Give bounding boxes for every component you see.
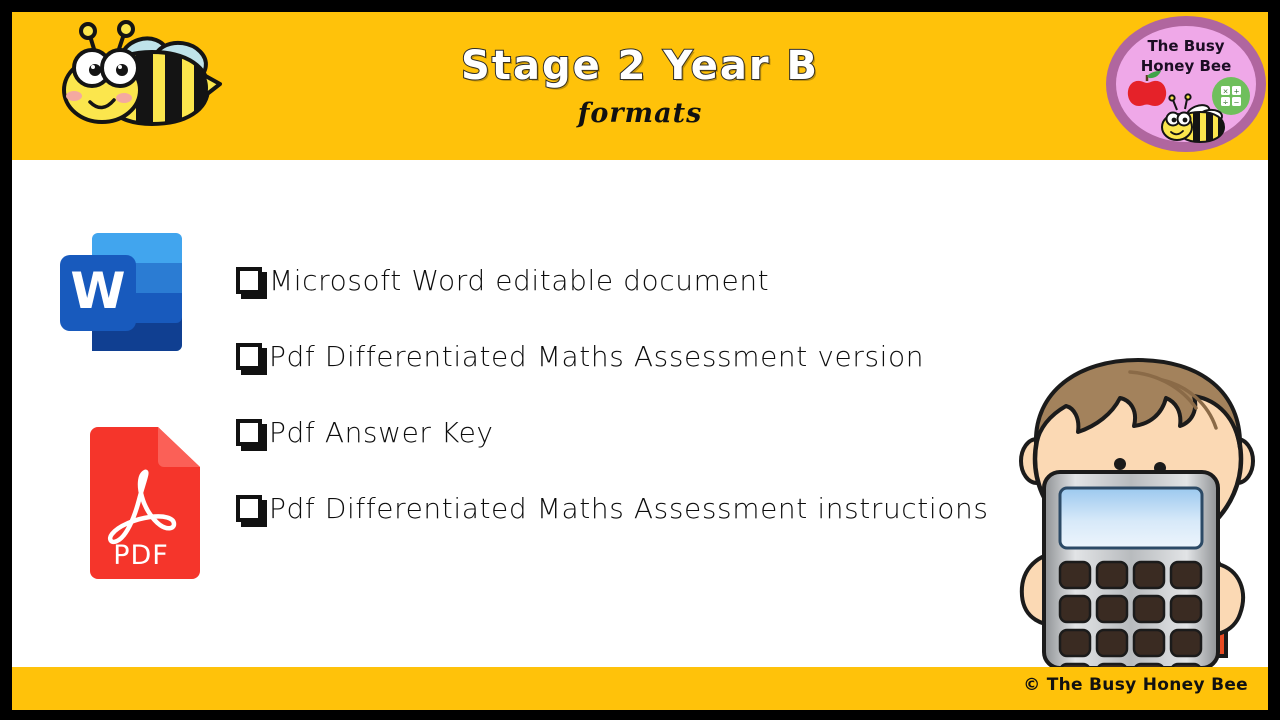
checkbox-1[interactable] [236, 343, 262, 370]
checklist-item-label: Pdf Differentiated Maths Assessment inst… [269, 486, 989, 532]
pdf-icon-label: PDF [113, 540, 169, 571]
svg-text:+: + [1234, 88, 1240, 96]
checklist-item[interactable]: Microsoft Word editable document [236, 258, 1026, 310]
brand-logo-graphic: × + ÷ − [1103, 14, 1269, 154]
svg-text:×: × [1223, 88, 1229, 96]
calculator-badge-icon: × + ÷ − [1212, 77, 1250, 115]
brand-logo[interactable]: × + ÷ − [1103, 14, 1269, 154]
footer-credit: © The Busy Honey Bee [1023, 675, 1248, 695]
checklist-item[interactable]: Pdf Differentiated Maths Assessment vers… [236, 334, 1026, 386]
word-icon-letter: W [70, 262, 125, 320]
microsoft-word-icon[interactable]: W [58, 231, 184, 353]
checklist-item-label: Pdf Answer Key [269, 410, 494, 456]
checkbox-3[interactable] [236, 495, 262, 522]
bee-mascot-icon [52, 18, 227, 138]
formats-checklist: Microsoft Word editable document Pdf Dif… [236, 258, 1026, 538]
checklist-item[interactable]: Pdf Differentiated Maths Assessment inst… [236, 486, 1026, 538]
slide-canvas: Stage 2 Year B formats × + ÷ [0, 0, 1280, 720]
boy-with-calculator-illustration [1012, 356, 1274, 668]
svg-text:−: − [1234, 99, 1240, 107]
checklist-item-label: Microsoft Word editable document [269, 258, 769, 304]
checklist-item[interactable]: Pdf Answer Key [236, 410, 1026, 462]
checkbox-0[interactable] [236, 267, 262, 294]
calculator-prop [1044, 472, 1218, 668]
pdf-file-icon[interactable]: PDF [82, 427, 200, 579]
svg-text:÷: ÷ [1223, 99, 1229, 107]
checklist-item-label: Pdf Differentiated Maths Assessment vers… [269, 334, 924, 380]
checkbox-2[interactable] [236, 419, 262, 446]
